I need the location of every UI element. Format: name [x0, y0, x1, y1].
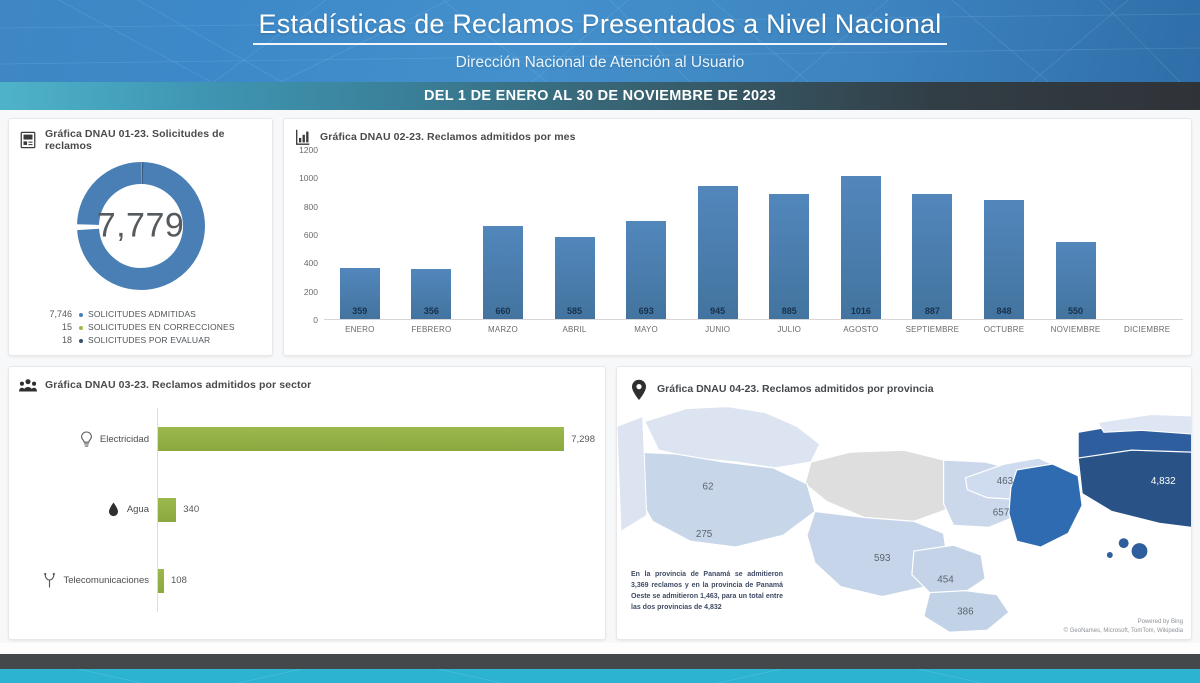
bar-slot[interactable]: 359: [324, 150, 396, 319]
map-card-title: Gráfica DNAU 04-23. Reclamos admitidos p…: [657, 379, 934, 395]
y-tick: 0: [313, 315, 318, 325]
people-group-icon: [19, 376, 37, 394]
sector-bar[interactable]: [157, 498, 176, 522]
map-pin-icon: [631, 379, 647, 401]
bar-chart-x-axis: ENEROFEBREROMARZOABRILMAYOJUNIOJULIOAGOS…: [324, 320, 1183, 342]
bar-agosto[interactable]: 1016: [841, 176, 881, 319]
x-tick-label: AGOSTO: [825, 320, 897, 342]
sector-bar-wrap: 108: [157, 545, 595, 616]
card-reclamos-por-sector[interactable]: Gráfica DNAU 03-23. Reclamos admitidos p…: [8, 366, 606, 640]
sector-row-electricidad[interactable]: Electricidad 7,298: [15, 404, 595, 475]
bar-slot[interactable]: 693: [610, 150, 682, 319]
footer-teal-band: [0, 669, 1200, 683]
donut-card-header: Gráfica DNAU 01-23. Solicitudes de recla…: [9, 119, 272, 152]
sector-card-header: Gráfica DNAU 03-23. Reclamos admitidos p…: [9, 367, 605, 394]
bar-value-label: 1016: [851, 306, 871, 319]
sector-bar-chart[interactable]: Electricidad 7,298: [9, 394, 605, 622]
lightbulb-icon: [80, 431, 93, 448]
map-value-386: 386: [957, 606, 974, 617]
card-reclamos-por-mes[interactable]: Gráfica DNAU 02-23. Reclamos admitidos p…: [283, 118, 1192, 356]
bar-slot[interactable]: 945: [682, 150, 754, 319]
x-tick-label: SEPTIEMBRE: [897, 320, 969, 342]
bar-slot[interactable]: 887: [897, 150, 969, 319]
sector-row-telecomunicaciones[interactable]: Telecomunicaciones 108: [15, 545, 595, 616]
bar-value-label: 585: [567, 306, 582, 319]
bar-value-label: 887: [925, 306, 940, 319]
bar-junio[interactable]: 945: [698, 186, 738, 319]
x-tick-label: MARZO: [467, 320, 539, 342]
bar-chart-y-axis: 1200 1000 800 600 400 200 0: [292, 150, 322, 320]
map-value-593: 593: [874, 553, 891, 564]
legend-value: 18: [9, 334, 79, 347]
sector-value: 108: [164, 575, 187, 586]
bar-enero[interactable]: 359: [340, 268, 380, 319]
bar-value-label: 660: [495, 306, 510, 319]
donut-chart[interactable]: 7,779: [9, 156, 272, 296]
sector-bar[interactable]: [157, 569, 164, 593]
bar-value-label: 359: [352, 306, 367, 319]
bar-slot[interactable]: [1111, 150, 1183, 319]
sector-label-group: Agua: [15, 501, 157, 518]
donut-center-value: 7,779: [9, 207, 272, 246]
bar-value-label: 885: [782, 306, 797, 319]
report-document-icon: [19, 131, 37, 149]
bars-card-header: Gráfica DNAU 02-23. Reclamos admitidos p…: [284, 119, 1191, 146]
bar-abril[interactable]: 585: [555, 237, 595, 319]
sector-chart-axis-line: [157, 408, 158, 612]
legend-label: SOLICITUDES POR EVALUAR: [88, 334, 210, 347]
y-tick: 600: [304, 230, 318, 240]
footer-mesh-decoration: [0, 669, 1200, 683]
legend-label: SOLICITUDES ADMITIDAS: [88, 308, 196, 321]
bar-noviembre[interactable]: 550: [1056, 242, 1096, 319]
bar-slot[interactable]: 1016: [825, 150, 897, 319]
monthly-bar-chart[interactable]: 1200 1000 800 600 400 200 0 359356660585…: [284, 146, 1191, 342]
page-subtitle: Dirección Nacional de Atención al Usuari…: [456, 54, 745, 72]
x-tick-label: FEBRERO: [396, 320, 468, 342]
page-title: Estadísticas de Reclamos Presentados a N…: [253, 10, 948, 45]
y-tick: 800: [304, 202, 318, 212]
legend-value: 7,746: [9, 308, 79, 321]
bar-series-container: 3593566605856939458851016887848550: [324, 150, 1183, 320]
x-tick-label: ENERO: [324, 320, 396, 342]
bar-value-label: 693: [639, 306, 654, 319]
bar-value-label: 356: [424, 306, 439, 319]
sector-card-title: Gráfica DNAU 03-23. Reclamos admitidos p…: [45, 379, 311, 391]
bar-mayo[interactable]: 693: [626, 221, 666, 319]
legend-color-swatch: [79, 313, 83, 317]
antenna-icon: [43, 572, 56, 589]
bar-julio[interactable]: 885: [769, 194, 809, 319]
bar-slot[interactable]: 660: [467, 150, 539, 319]
bars-card-title: Gráfica DNAU 02-23. Reclamos admitidos p…: [320, 131, 576, 143]
bar-slot[interactable]: 885: [753, 150, 825, 319]
legend-value: 15: [9, 321, 79, 334]
legend-item[interactable]: 7,746 SOLICITUDES ADMITIDAS: [9, 308, 262, 321]
map-island-small: [1107, 552, 1113, 558]
sector-name: Telecomunicaciones: [63, 575, 149, 586]
x-tick-label: JUNIO: [682, 320, 754, 342]
donut-legend: 7,746 SOLICITUDES ADMITIDAS 15 SOLICITUD…: [9, 308, 272, 347]
dashboard-content: Gráfica DNAU 01-23. Solicitudes de recla…: [0, 110, 1200, 643]
x-tick-label: MAYO: [610, 320, 682, 342]
footer-dark-band: [0, 654, 1200, 669]
map-value-454: 454: [937, 575, 954, 586]
legend-item[interactable]: 18 SOLICITUDES POR EVALUAR: [9, 334, 262, 347]
sector-value: 7,298: [564, 434, 595, 445]
sector-name: Electricidad: [100, 434, 149, 445]
sector-bar-wrap: 340: [157, 475, 595, 546]
page-header: Estadísticas de Reclamos Presentados a N…: [0, 0, 1200, 82]
map-value-275: 275: [696, 529, 713, 540]
y-tick: 1200: [299, 145, 318, 155]
map-value-657: 657: [993, 507, 1009, 518]
x-tick-label: JULIO: [753, 320, 825, 342]
map-value-4832: 4,832: [1151, 476, 1176, 487]
dashboard-page: Estadísticas de Reclamos Presentados a N…: [0, 0, 1200, 683]
map-attribution: Powered by Bing © GeoNames, Microsoft, T…: [1064, 618, 1183, 635]
legend-color-swatch: [79, 326, 83, 330]
map-attribution-sources: © GeoNames, Microsoft, TomTom, Wikipedia: [1064, 627, 1183, 636]
sector-bar[interactable]: [157, 427, 564, 451]
map-value-463: 463: [997, 476, 1014, 487]
water-drop-icon: [107, 501, 120, 518]
date-range-label: DEL 1 DE ENERO AL 30 DE NOVIEMBRE DE 202…: [424, 88, 776, 104]
bar-value-label: 550: [1068, 306, 1083, 319]
map-annotation-note: En la provincia de Panamá se admitieron …: [631, 569, 783, 613]
x-tick-label: OCTUBRE: [968, 320, 1040, 342]
bar-septiembre[interactable]: 887: [912, 194, 952, 319]
bar-slot[interactable]: 550: [1040, 150, 1112, 319]
legend-label: SOLICITUDES EN CORRECCIONES: [88, 321, 235, 334]
map-island-taboga: [1119, 538, 1129, 548]
donut-card-title: Gráfica DNAU 01-23. Solicitudes de recla…: [45, 128, 262, 152]
map-island-contadora: [1132, 543, 1148, 559]
sector-value: 340: [176, 504, 199, 515]
y-tick: 400: [304, 258, 318, 268]
sector-label-group: Electricidad: [15, 431, 157, 448]
legend-item[interactable]: 15 SOLICITUDES EN CORRECCIONES: [9, 321, 262, 334]
bar-slot[interactable]: 585: [539, 150, 611, 319]
card-reclamos-por-provincia[interactable]: 62 275 463 657 593 454 386 4,832 1 23: [616, 366, 1192, 640]
sector-bar-wrap: 7,298: [157, 404, 595, 475]
bar-slot[interactable]: 356: [396, 150, 468, 319]
sector-label-group: Telecomunicaciones: [15, 572, 157, 589]
date-range-bar: DEL 1 DE ENERO AL 30 DE NOVIEMBRE DE 202…: [0, 82, 1200, 110]
x-tick-label: NOVIEMBRE: [1040, 320, 1112, 342]
bar-marzo[interactable]: 660: [483, 226, 523, 319]
map-attribution-powered-by: Powered by Bing: [1064, 618, 1183, 627]
x-tick-label: ABRIL: [539, 320, 611, 342]
x-tick-label: DICIEMBRE: [1111, 320, 1183, 342]
bar-value-label: 945: [710, 306, 725, 319]
bar-febrero[interactable]: 356: [411, 269, 451, 319]
bar-chart-icon: [294, 128, 312, 146]
sector-name: Agua: [127, 504, 149, 515]
map-region-west-neighbor: [617, 416, 647, 531]
bar-octubre[interactable]: 848: [984, 200, 1024, 319]
map-card-header: Gráfica DNAU 04-23. Reclamos admitidos p…: [631, 379, 934, 401]
y-tick: 1000: [299, 173, 318, 183]
sector-row-agua[interactable]: Agua 340: [15, 475, 595, 546]
legend-color-swatch: [79, 339, 83, 343]
map-value-62: 62: [703, 482, 714, 493]
card-solicitudes-donut[interactable]: Gráfica DNAU 01-23. Solicitudes de recla…: [8, 118, 273, 356]
bar-value-label: 848: [996, 306, 1011, 319]
bar-slot[interactable]: 848: [968, 150, 1040, 319]
y-tick: 200: [304, 287, 318, 297]
